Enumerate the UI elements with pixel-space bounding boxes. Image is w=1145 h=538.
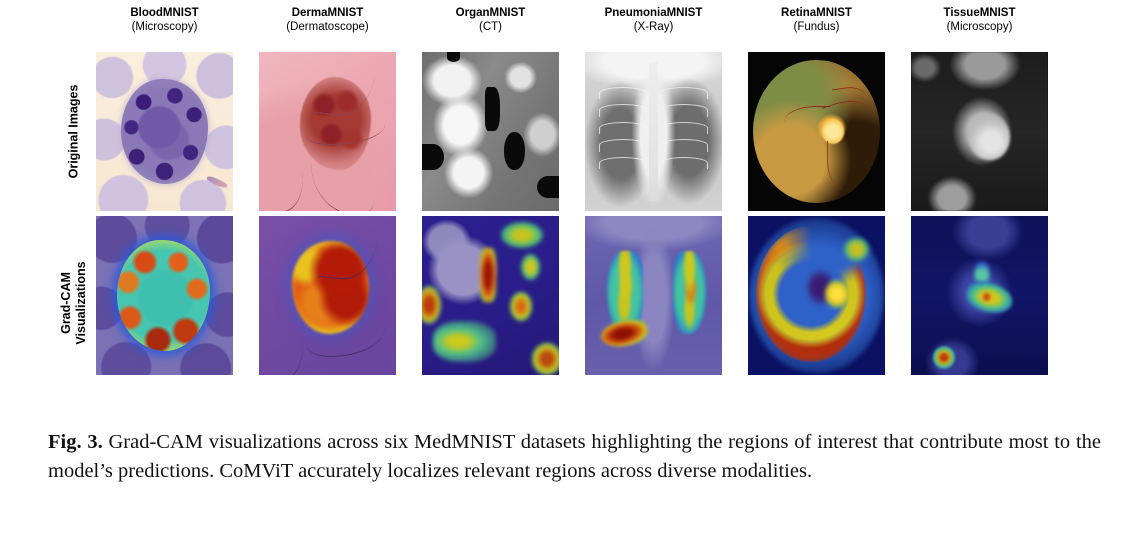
- fundus-disk: [753, 60, 879, 203]
- gradcam-hot-region: [422, 286, 441, 324]
- white-blood-cell: [121, 79, 209, 184]
- panel-gradcam-pneumoniamnist: [585, 216, 722, 375]
- blood-microscopy-image: [96, 52, 233, 211]
- panel-original-tissuemnist: [911, 52, 1048, 211]
- retina-gradcam-overlay: [748, 216, 885, 375]
- tissue-microscopy-image: [911, 52, 1048, 211]
- rib: [599, 87, 648, 99]
- retina-fundus-image: [748, 52, 885, 211]
- gradcam-hot-region: [599, 316, 650, 351]
- row-label-line-2: Visualizations: [74, 213, 89, 393]
- panel-original-organmnist: [422, 52, 559, 211]
- ct-dark-region: [447, 52, 461, 62]
- rib: [599, 139, 648, 151]
- gradcam-hot-region: [480, 248, 496, 302]
- hair-strand: [311, 141, 374, 211]
- gradcam-right-lung-region: [673, 251, 706, 334]
- dataset-name: OrganMNIST: [422, 6, 559, 20]
- dataset-modality: (CT): [422, 20, 559, 34]
- rib: [660, 87, 709, 99]
- column-headers: BloodMNIST (Microscopy) DermaMNIST (Derm…: [96, 6, 1072, 50]
- rib: [660, 104, 709, 116]
- hair-strand: [259, 144, 308, 211]
- panel-gradcam-retinamnist: [748, 216, 885, 375]
- row-label-original-images: Original Images: [67, 52, 82, 212]
- panel-gradcam-organmnist: [422, 216, 559, 375]
- rib: [660, 157, 709, 169]
- hair-strand: [318, 216, 380, 283]
- ct-dark-region: [422, 144, 444, 169]
- blood-gradcam-overlay: [96, 216, 233, 375]
- organ-ct-image: [422, 52, 559, 211]
- gradcam-hot-region: [963, 278, 1015, 316]
- dataset-name: PneumoniaMNIST: [585, 6, 722, 20]
- dataset-modality: (Fundus): [748, 20, 885, 34]
- row-gradcam-visualizations: [96, 216, 1048, 375]
- rib: [660, 122, 709, 134]
- gradcam-hot-region: [501, 222, 542, 247]
- panel-original-retinamnist: [748, 52, 885, 211]
- panel-grid: [96, 52, 1048, 375]
- gradcam-hot-region: [433, 321, 496, 362]
- panel-original-dermamnist: [259, 52, 396, 211]
- organ-gradcam-overlay: [422, 216, 559, 375]
- panel-gradcam-dermamnist: [259, 216, 396, 375]
- gradcam-hot-region: [521, 254, 540, 279]
- rib: [599, 157, 648, 169]
- column-header-dermamnist: DermaMNIST (Dermatoscope): [259, 6, 396, 50]
- figure-caption-text: Grad-CAM visualizations across six MedMN…: [48, 431, 1101, 482]
- dataset-modality: (X-Ray): [585, 20, 722, 34]
- tissue-gradcam-overlay: [911, 216, 1048, 375]
- cell-artifact: [205, 175, 228, 190]
- derma-dermatoscope-image: [259, 52, 396, 211]
- rib: [599, 104, 648, 116]
- pneumonia-xray-image: [585, 52, 722, 211]
- rib: [660, 139, 709, 151]
- dataset-name: BloodMNIST: [96, 6, 233, 20]
- hair-strand: [259, 312, 308, 375]
- retinal-vessel: [827, 141, 855, 189]
- figure-grad-cam: BloodMNIST (Microscopy) DermaMNIST (Derm…: [0, 0, 1145, 538]
- dataset-name: DermaMNIST: [259, 6, 396, 20]
- derma-gradcam-overlay: [259, 216, 396, 375]
- dataset-modality: (Microscopy): [911, 20, 1048, 34]
- dataset-name: RetinaMNIST: [748, 6, 885, 20]
- tissue-nucleus: [969, 112, 1010, 160]
- spine: [649, 62, 657, 202]
- panel-original-bloodmnist: [96, 52, 233, 211]
- panel-gradcam-tissuemnist: [911, 216, 1048, 375]
- figure-number: Fig. 3.: [48, 431, 103, 453]
- panel-gradcam-bloodmnist: [96, 216, 233, 375]
- gradcam-hot-region: [532, 343, 559, 375]
- column-header-pneumoniamnist: PneumoniaMNIST (X-Ray): [585, 6, 722, 50]
- dataset-modality: (Microscopy): [96, 20, 233, 34]
- panel-original-pneumoniamnist: [585, 52, 722, 211]
- hair-strand: [306, 315, 385, 357]
- gradcam-warm-region: [844, 238, 869, 260]
- dataset-name: TissueMNIST: [911, 6, 1048, 20]
- figure-caption: Fig. 3. Grad-CAM visualizations across s…: [48, 428, 1101, 486]
- column-header-organmnist: OrganMNIST (CT): [422, 6, 559, 50]
- row-label-gradcam-visualizations: Grad-CAM Visualizations: [59, 213, 89, 393]
- dataset-modality: (Dermatoscope): [259, 20, 396, 34]
- gradcam-hot-region: [117, 240, 210, 351]
- gradcam-hot-region: [510, 292, 532, 321]
- rib: [599, 122, 648, 134]
- column-header-tissuemnist: TissueMNIST (Microscopy): [911, 6, 1048, 50]
- row-label-line-1: Grad-CAM: [59, 213, 74, 393]
- row-original-images: [96, 52, 1048, 211]
- pneumonia-gradcam-overlay: [585, 216, 722, 375]
- ct-dark-region: [504, 132, 525, 170]
- column-header-retinamnist: RetinaMNIST (Fundus): [748, 6, 885, 50]
- ct-dark-region: [537, 176, 559, 198]
- ct-dark-region: [485, 87, 500, 132]
- column-header-bloodmnist: BloodMNIST (Microscopy): [96, 6, 233, 50]
- gradcam-peak-region: [933, 346, 955, 368]
